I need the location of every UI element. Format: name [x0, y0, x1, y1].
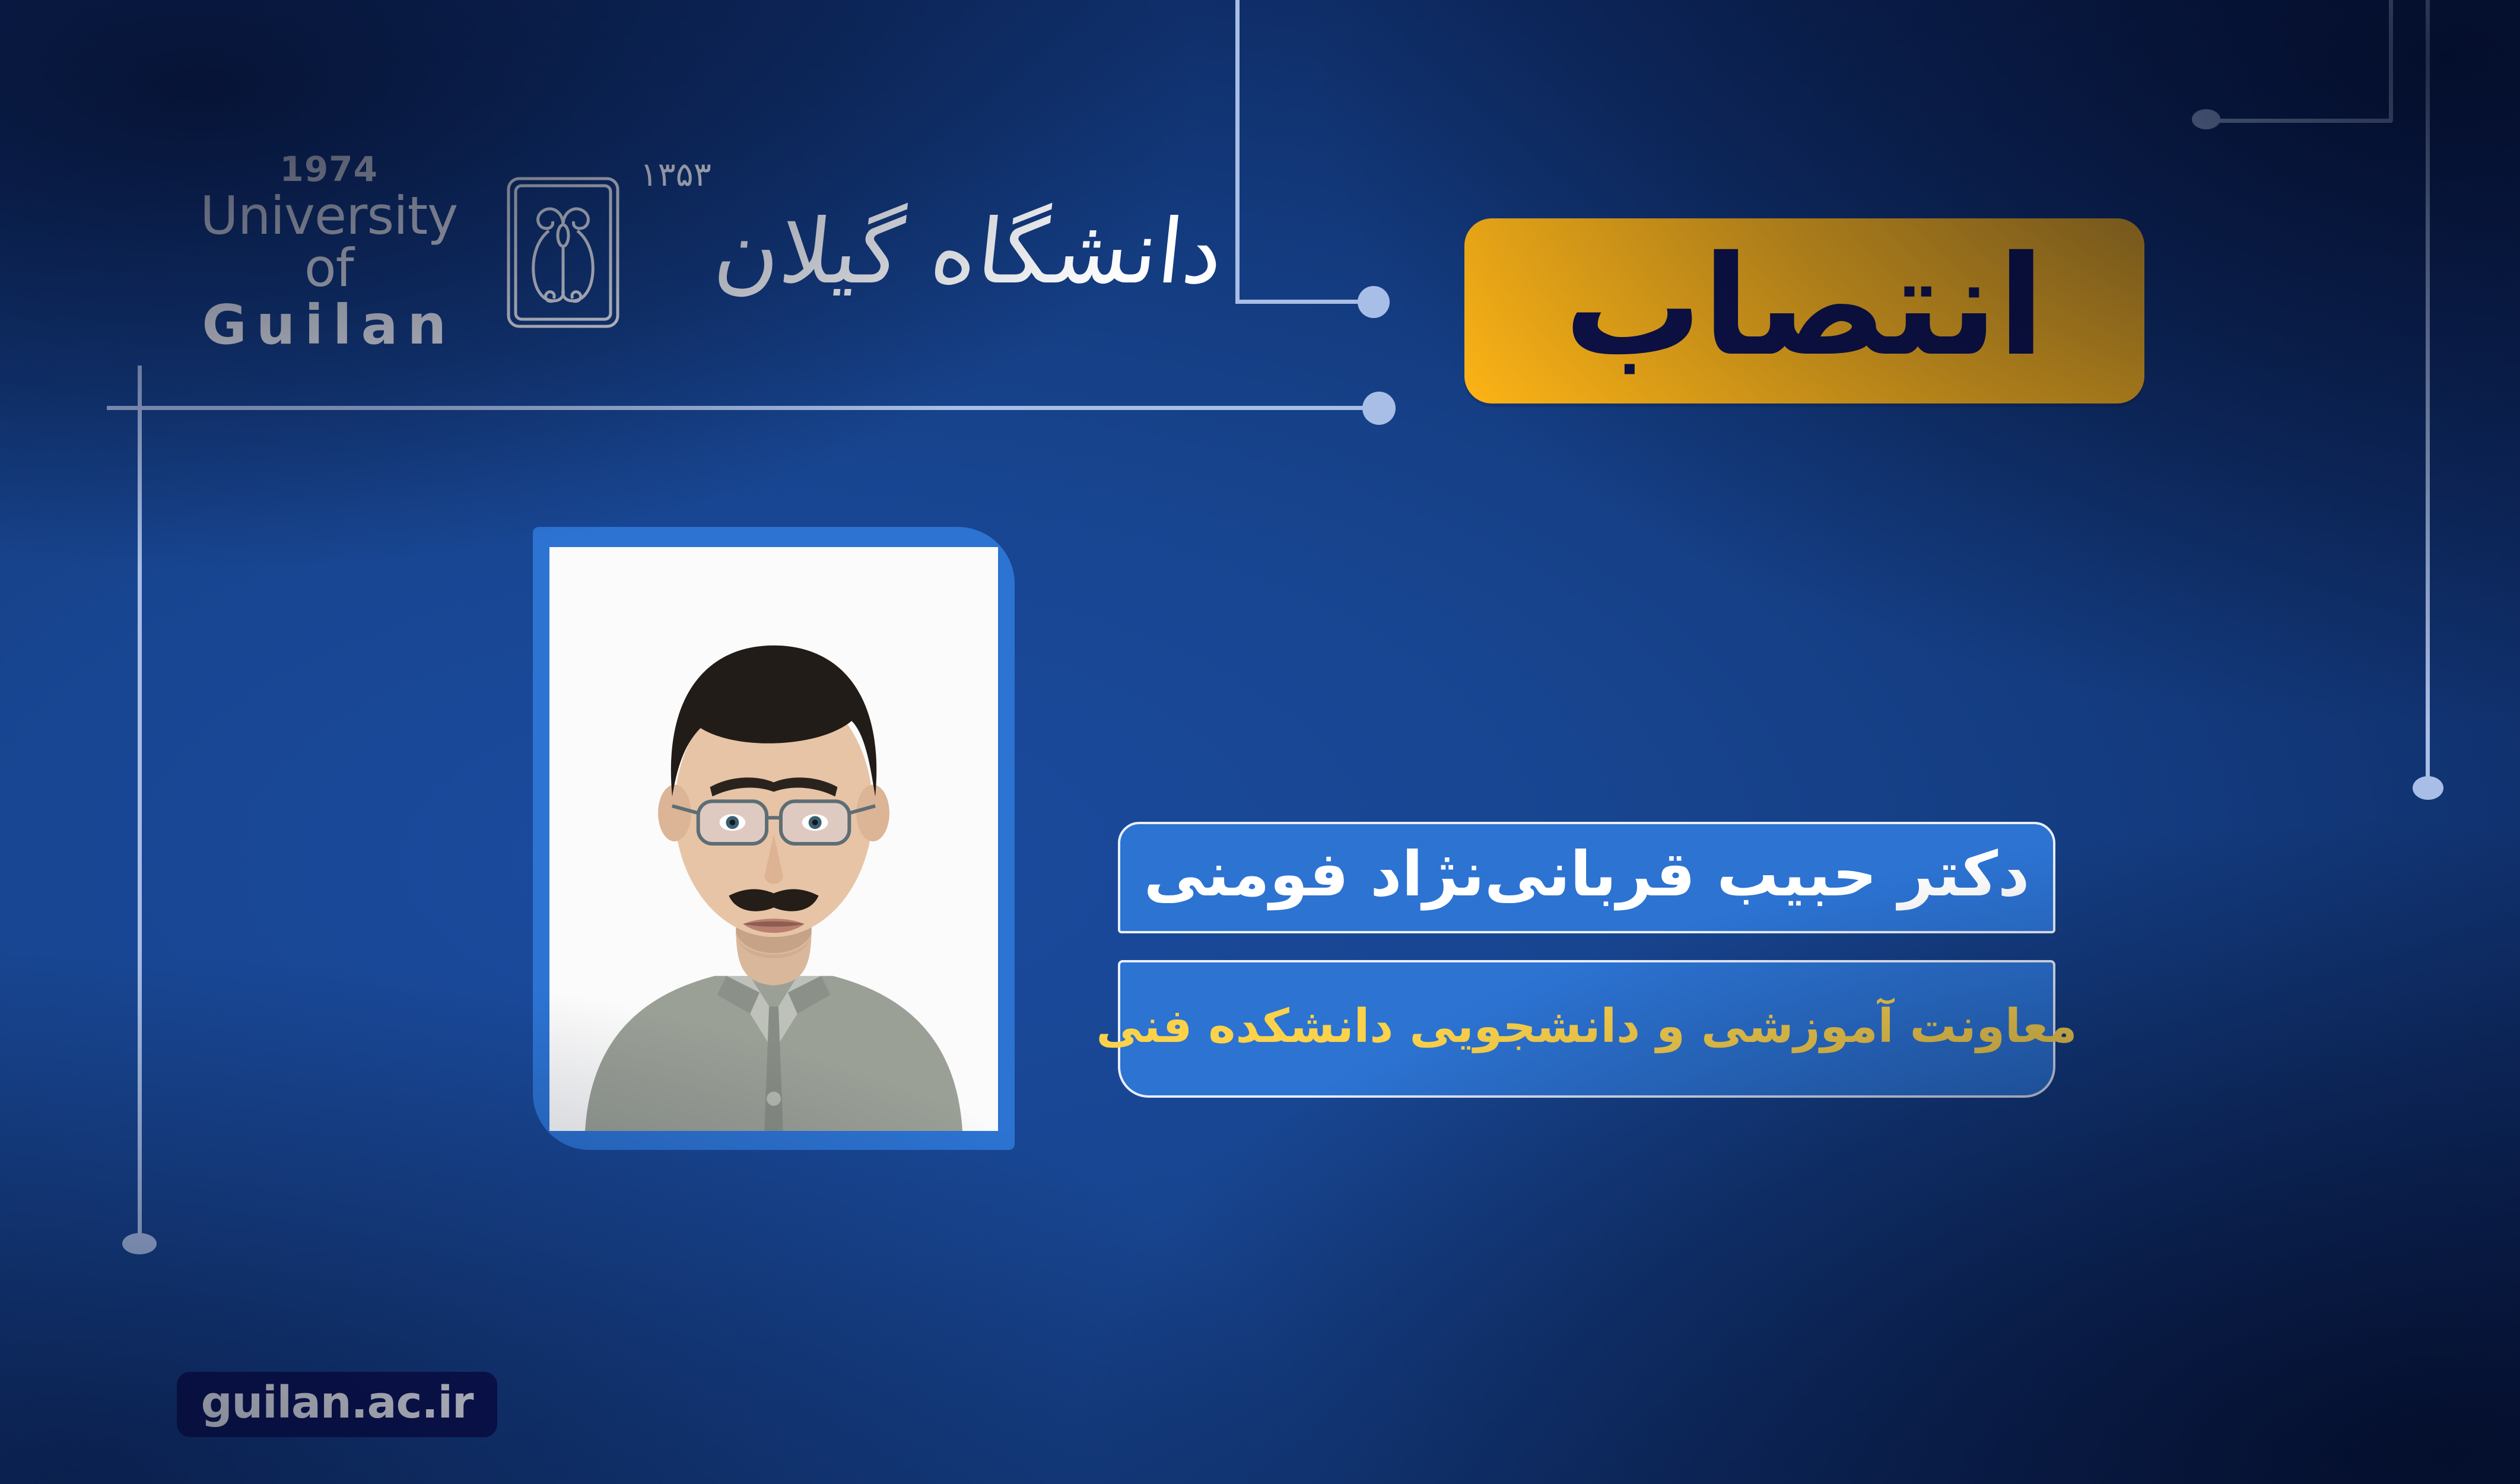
logo-english-wordmark: 1974 University of Guilan — [178, 152, 480, 352]
logo-persian-year: ۱۳۵۳ — [640, 155, 711, 194]
university-logo: دانشگاه گیلان ۱۳۵۳ 1974 University of Gu… — [178, 142, 1222, 362]
website-badge[interactable]: guilan.ac.ir — [177, 1372, 497, 1437]
deco-dot-top-horizontal-end — [1358, 286, 1390, 318]
portrait-photo — [549, 547, 998, 1131]
deco-line-top-horizontal — [1235, 300, 1366, 304]
portrait-frame — [533, 527, 1015, 1150]
deco-line-left-horizontal — [107, 406, 1377, 410]
deco-dot-left-horizontal-end — [1362, 392, 1396, 425]
website-url: guilan.ac.ir — [201, 1381, 474, 1425]
deco-line-right-horizontal — [2205, 119, 2392, 123]
deco-dot-right-horizontal-end — [2192, 109, 2220, 129]
logo-founding-year: 1974 — [178, 152, 480, 186]
logo-persian-name: دانشگاه گیلان — [710, 208, 1227, 297]
person-role: معاونت آموزشی و دانشجویی دانشکده فنی — [1096, 1003, 2077, 1050]
deco-line-right-vertical — [2389, 0, 2393, 121]
deco-line-farright-vertical — [2426, 0, 2430, 784]
headline-badge: انتصاب — [1464, 218, 2144, 403]
deco-dot-farright-end — [2413, 776, 2443, 800]
appointment-poster: دانشگاه گیلان ۱۳۵۳ 1974 University of Gu… — [0, 0, 2520, 1484]
deco-line-top-vertical — [1235, 0, 1240, 301]
logo-english-line2: Guilan — [178, 298, 480, 352]
headline-label: انتصاب — [1564, 237, 2045, 375]
logo-english-line1: University of — [178, 190, 480, 294]
person-name-badge: دکتر حبیب قربانی‌نژاد فومنی — [1118, 822, 2055, 933]
person-role-badge: معاونت آموزشی و دانشجویی دانشکده فنی — [1118, 960, 2055, 1098]
deco-dot-bottomleft — [122, 1233, 157, 1254]
person-name: دکتر حبیب قربانی‌نژاد فومنی — [1144, 843, 2030, 905]
guilan-emblem-icon — [504, 174, 622, 331]
deco-line-topleft-vertical — [138, 366, 142, 1244]
